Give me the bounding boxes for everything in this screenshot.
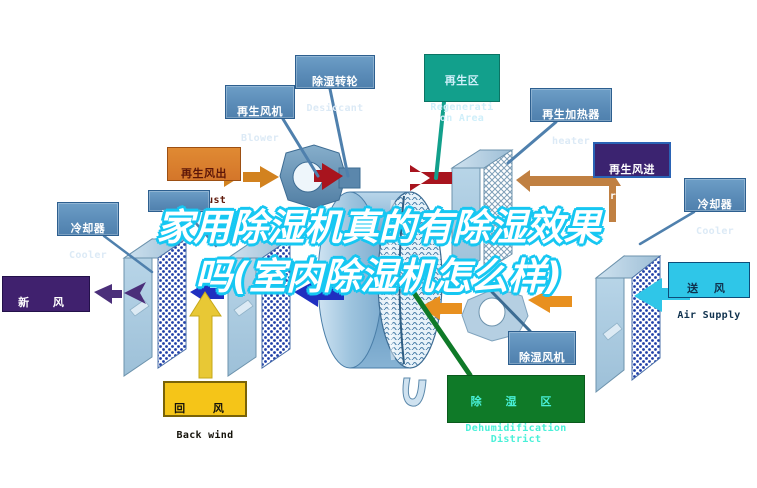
label-en: Cooler bbox=[58, 251, 118, 262]
label-regen-fresh-air-inlet[interactable]: 再生风进 Fresh Air bbox=[593, 142, 671, 178]
label-cn: 送 风 bbox=[669, 283, 749, 295]
cooler-coil-2 bbox=[228, 239, 290, 376]
label-en: Regenerati on Area bbox=[425, 103, 499, 124]
label-air-supply[interactable]: 送 风 Air Supply bbox=[668, 262, 750, 298]
label-cn: 再生区 bbox=[425, 75, 499, 87]
label-en: Air Supply bbox=[669, 311, 749, 322]
label-regeneration-area[interactable]: 再生区 Regenerati on Area bbox=[424, 54, 500, 102]
label-cn: 再生风进 bbox=[595, 164, 669, 176]
label-desiccant-rotor[interactable]: 除湿转轮 Desiccant bbox=[295, 55, 375, 89]
svg-text:xm: xm bbox=[391, 283, 412, 300]
label-cooler-left-front[interactable]: 冷却器 Cooler bbox=[57, 202, 119, 236]
label-regen-heater[interactable]: 再生加热器 heater bbox=[530, 88, 612, 122]
cooler-coil-3 bbox=[596, 256, 660, 392]
regen-hot-arrow-2 bbox=[410, 165, 452, 191]
drain-pan bbox=[403, 378, 426, 406]
label-en: Fresh Air bbox=[3, 325, 89, 336]
label-cn: 除 湿 区 bbox=[448, 396, 584, 408]
label-cn: 除湿风机 bbox=[509, 352, 575, 364]
label-cn: 除湿转轮 bbox=[296, 76, 374, 88]
diagram-canvas: xm bbox=[0, 0, 757, 488]
label-en: Dehumidification District bbox=[448, 424, 584, 445]
dry-air-arrow-2 bbox=[528, 289, 572, 313]
desiccant-wheel: xm bbox=[318, 192, 442, 368]
label-cn: 回 风 bbox=[165, 403, 245, 415]
label-cooler-left-back[interactable]: 冷却器 bbox=[148, 190, 210, 212]
label-dehumidification-district[interactable]: 除 湿 区 Dehumidification District bbox=[447, 375, 585, 423]
label-cn: 再生风出 bbox=[168, 168, 240, 180]
cooler-coil-1 bbox=[124, 239, 186, 376]
label-cn: 冷却器 bbox=[149, 210, 209, 222]
label-en: Fresh Air bbox=[595, 192, 669, 203]
label-cn: 冷却器 bbox=[58, 223, 118, 235]
label-back-wind[interactable]: 回 风 Back wind bbox=[163, 381, 247, 417]
label-cn: 新 风 bbox=[3, 297, 89, 309]
label-dehumid-blower[interactable]: 除湿风机 Blower bbox=[508, 331, 576, 365]
label-cn: 冷却器 bbox=[685, 199, 745, 211]
label-en: Desiccant bbox=[296, 104, 374, 115]
label-cn: 再生加热器 bbox=[531, 109, 611, 121]
label-en: Cooler bbox=[685, 227, 745, 238]
label-regen-exhaust[interactable]: 再生风出 Exhaust bbox=[167, 147, 241, 181]
label-regen-blower[interactable]: 再生风机 Blower bbox=[225, 85, 295, 119]
label-en: Back wind bbox=[165, 431, 245, 442]
heater-coil bbox=[452, 150, 512, 278]
label-en: Blower bbox=[226, 134, 294, 145]
label-cn: 再生风机 bbox=[226, 106, 294, 118]
back-wind-arrow bbox=[190, 292, 221, 378]
label-cooler-right[interactable]: 冷却器 Cooler bbox=[684, 178, 746, 212]
label-fresh-air-inlet[interactable]: 新 风 Fresh Air bbox=[2, 276, 90, 312]
